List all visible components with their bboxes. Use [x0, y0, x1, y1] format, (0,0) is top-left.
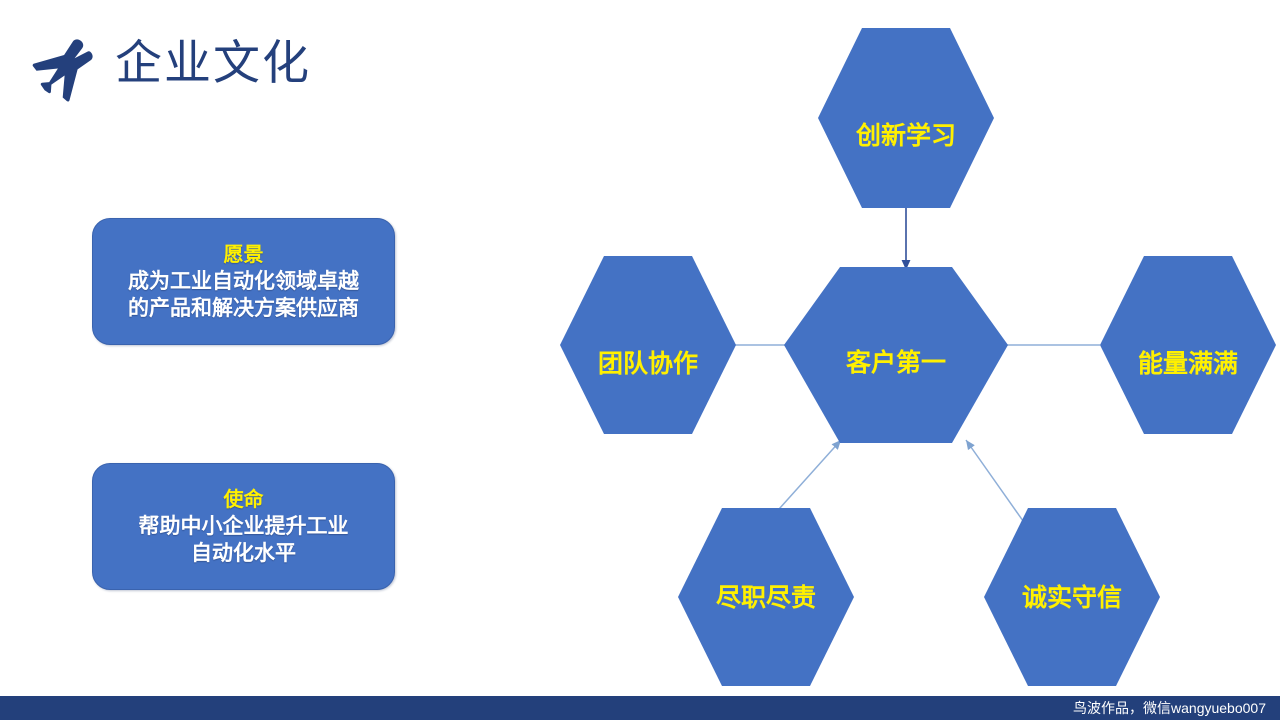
vision-card-title: 愿景	[224, 242, 264, 268]
hexagon-shape-left	[560, 256, 736, 434]
hexagon-node-center[interactable]: 客户第一	[784, 267, 1008, 443]
hexagon-diagram: 创新学习 团队协作 客户第一 能量满满 尽职尽责	[540, 0, 1280, 700]
hexagon-label-left: 团队协作	[598, 349, 698, 378]
mission-card-title: 使命	[224, 487, 264, 513]
hexagon-node-bottom-left[interactable]: 尽职尽责	[678, 508, 854, 686]
vision-card: 愿景 成为工业自动化领域卓越 的产品和解决方案供应商	[92, 218, 395, 345]
hexagon-node-right[interactable]: 能量满满	[1100, 256, 1276, 434]
page-title: 企业文化	[115, 32, 311, 94]
mission-card: 使命 帮助中小企业提升工业 自动化水平	[92, 463, 395, 590]
hexagon-label-bottom-left: 尽职尽责	[716, 584, 816, 612]
footer-credit-text: 鸟波作品，微信wangyuebo007	[1073, 696, 1266, 720]
hexagon-node-top[interactable]: 创新学习	[818, 28, 994, 208]
mission-card-line-2: 自动化水平	[191, 540, 296, 567]
hexagon-label-top: 创新学习	[855, 121, 956, 150]
vision-card-line-2: 的产品和解决方案供应商	[128, 295, 359, 322]
connector-bottom-right-to-center	[966, 440, 1028, 528]
mission-card-line-1: 帮助中小企业提升工业	[139, 513, 349, 540]
hexagon-label-center: 客户第一	[846, 348, 946, 377]
hexagon-shape-top	[818, 28, 994, 208]
slide-canvas: 企业文化 愿景 成为工业自动化领域卓越 的产品和解决方案供应商 使命 帮助中小企…	[0, 0, 1280, 720]
hexagon-label-bottom-right: 诚实守信	[1022, 583, 1122, 612]
hexagon-shape-right	[1100, 256, 1276, 434]
hexagon-node-left[interactable]: 团队协作	[560, 256, 736, 434]
hexagon-node-bottom-right[interactable]: 诚实守信	[984, 508, 1160, 686]
airplane-icon	[24, 27, 104, 109]
hexagon-label-right: 能量满满	[1138, 349, 1238, 378]
vision-card-line-1: 成为工业自动化领域卓越	[128, 268, 359, 295]
footer-bar: 鸟波作品，微信wangyuebo007	[0, 696, 1280, 720]
